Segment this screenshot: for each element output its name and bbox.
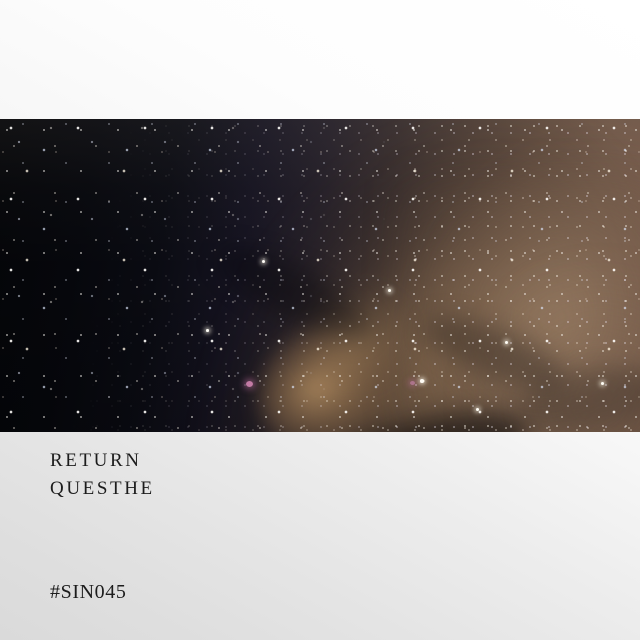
pink-nebula [246, 381, 253, 387]
album-cover: SINEDIE RECORDS RETURN QUESTHE #SIN045 [0, 0, 640, 640]
release-title: RETURN [50, 447, 155, 475]
cover-photo-milky-way: SINEDIE RECORDS [0, 119, 640, 432]
bright-star [206, 329, 209, 332]
bright-star [505, 341, 508, 344]
bright-star [262, 260, 265, 263]
release-title-block: RETURN QUESTHE [50, 447, 155, 503]
bright-star [388, 289, 391, 292]
bright-star [601, 382, 604, 385]
release-artist: QUESTHE [50, 475, 155, 503]
pink-nebula-secondary [410, 381, 415, 385]
bright-star [476, 408, 479, 411]
bright-star [420, 379, 424, 383]
catalog-number: #SIN045 [50, 580, 126, 604]
